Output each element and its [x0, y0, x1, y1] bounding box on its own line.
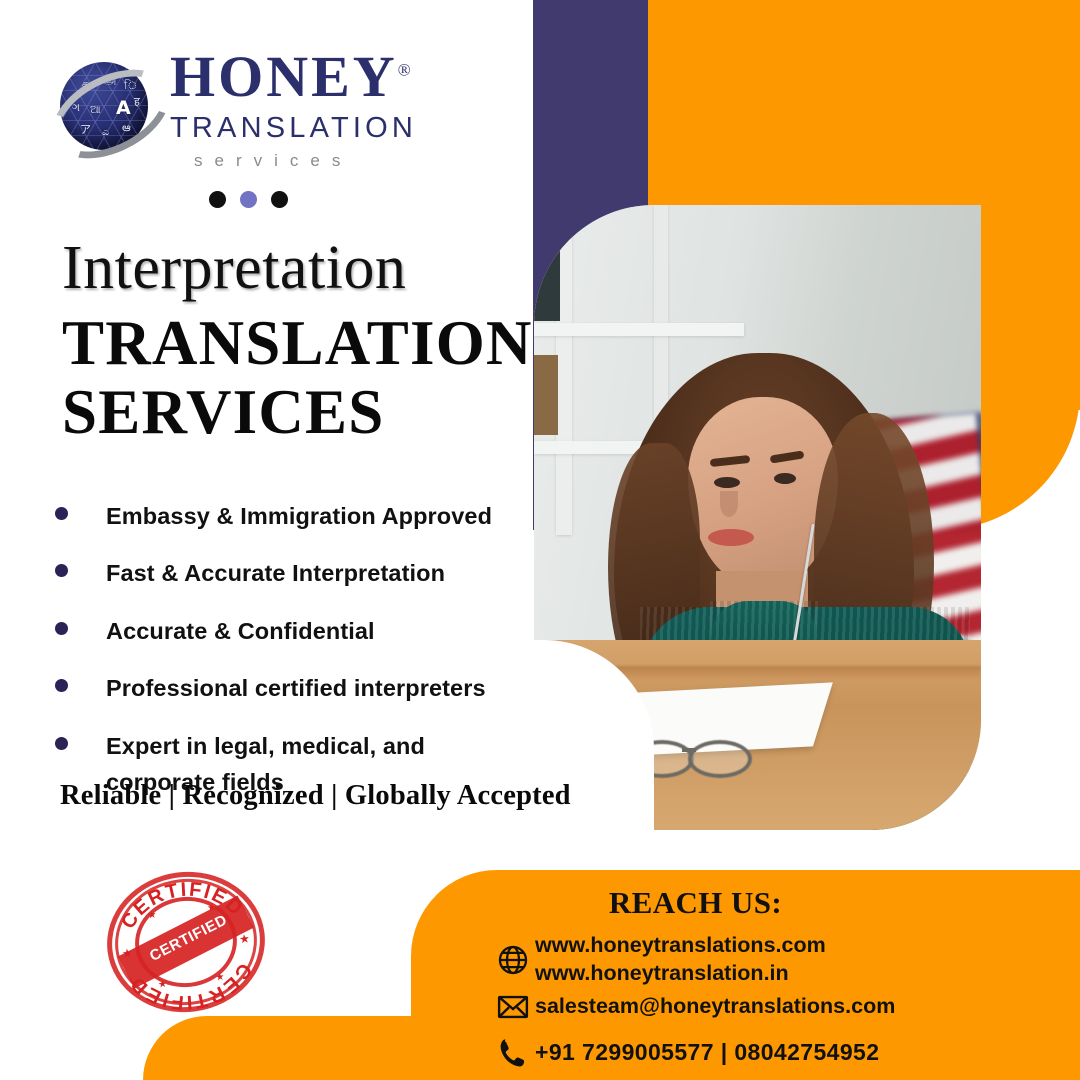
page-title: Interpretation TRANSLATION SERVICES: [62, 236, 532, 446]
registered-mark-icon: ®: [398, 61, 414, 80]
bullet-icon: [55, 564, 68, 577]
dot-right: [271, 191, 288, 208]
stamp-star-icon: ★: [215, 972, 225, 984]
trust-tagline: Reliable | Recognized | Globally Accepte…: [60, 780, 571, 812]
stamp-star-icon: ★: [147, 909, 157, 921]
photo-book: [534, 355, 558, 435]
phone-label[interactable]: +91 7299005577 | 08042754952: [535, 1038, 879, 1067]
contact-row-phone[interactable]: +91 7299005577 | 08042754952: [491, 1036, 879, 1070]
logo-subtitle: TRANSLATION: [170, 114, 417, 143]
headline-bold-2: SERVICES: [62, 379, 532, 446]
website-secondary[interactable]: www.honeytranslation.in: [535, 961, 789, 985]
contact-row-email[interactable]: salesteam@honeytranslations.com: [491, 990, 895, 1024]
list-item: Fast & Accurate Interpretation: [55, 555, 535, 591]
certified-stamp-icon: CERTIFIED CERTIFIED ★ ★ ★ ★ ★ ★ CERTIFIE…: [99, 863, 273, 1021]
contact-section: REACH US: www.honeytranslations.com www.…: [411, 870, 1080, 1080]
globe-icon: [491, 943, 535, 977]
logo-name-main: HONEY: [170, 44, 398, 109]
envelope-icon: [491, 990, 535, 1024]
email-label[interactable]: salesteam@honeytranslations.com: [535, 993, 895, 1021]
poster-canvas: க அ ি ગ ଆ A ह ア ಎ ఆ HONEY® TRANSLATION s…: [0, 0, 1080, 1080]
website-primary[interactable]: www.honeytranslations.com: [535, 933, 826, 957]
brand-logo[interactable]: க அ ি ગ ଆ A ह ア ಎ ఆ HONEY® TRANSLATION s…: [52, 48, 452, 168]
bullet-icon: [55, 737, 68, 750]
decorative-dots: [209, 191, 288, 208]
list-item-label: Fast & Accurate Interpretation: [106, 555, 445, 591]
website-labels: www.honeytranslations.com www.honeytrans…: [535, 932, 826, 987]
list-item: Embassy & Immigration Approved: [55, 498, 535, 534]
headline-bold-1: TRANSLATION: [62, 310, 532, 377]
bullet-icon: [55, 622, 68, 635]
feature-list: Embassy & Immigration Approved Fast & Ac…: [55, 498, 535, 822]
logo-tagline: services: [194, 152, 417, 169]
photo-lips: [708, 529, 754, 546]
bullet-icon: [55, 679, 68, 692]
contact-heading: REACH US:: [411, 885, 980, 921]
bullet-icon: [55, 507, 68, 520]
dot-left: [209, 191, 226, 208]
globe-icon: க அ ি ગ ଆ A ह ア ಎ ఆ: [52, 54, 156, 158]
photo-book: [534, 235, 560, 321]
list-item: Professional certified interpreters: [55, 670, 535, 706]
phone-icon: [491, 1036, 535, 1070]
logo-wordmark: HONEY®: [170, 48, 417, 106]
photo-nose: [720, 491, 738, 517]
list-item-label: Embassy & Immigration Approved: [106, 498, 492, 534]
headline-script: Interpretation: [62, 236, 532, 300]
list-item-label: Professional certified interpreters: [106, 670, 486, 706]
dot-middle: [240, 191, 257, 208]
list-item-label: Accurate & Confidential: [106, 613, 375, 649]
list-item: Accurate & Confidential: [55, 613, 535, 649]
stamp-star-icon: ★: [157, 979, 167, 991]
contact-row-website[interactable]: www.honeytranslations.com www.honeytrans…: [491, 932, 826, 987]
